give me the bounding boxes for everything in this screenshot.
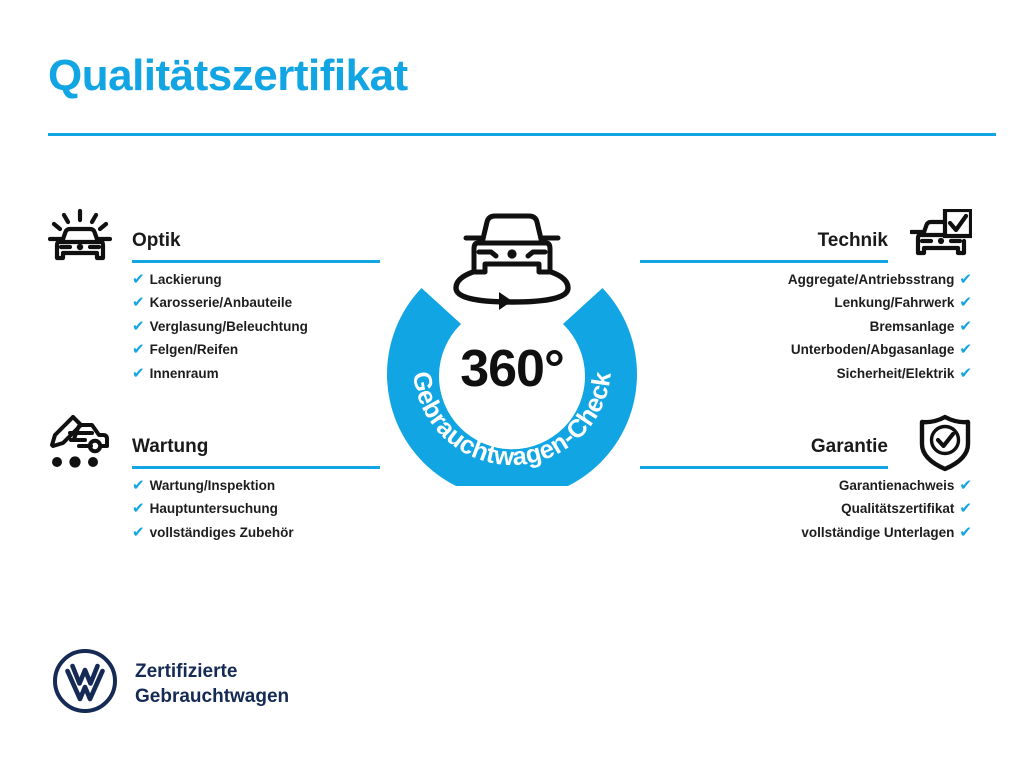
section-wartung-header: Wartung bbox=[48, 412, 380, 474]
quality-certificate-page: Qualitätszertifikat bbox=[0, 0, 1024, 768]
check-icon: ✔ bbox=[959, 295, 972, 310]
check-icon: ✔ bbox=[959, 342, 972, 357]
list-item: Unterboden/Abgasanlage ✔ bbox=[640, 338, 972, 361]
list-item-label: Verglasung/Beleuchtung bbox=[150, 315, 308, 338]
list-item: Lenkung/Fahrwerk ✔ bbox=[640, 291, 972, 314]
section-garantie-title: Garantie bbox=[811, 436, 888, 458]
vw-logo-line1: Zertifizierte bbox=[135, 661, 237, 682]
section-optik: Optik ✔ Lackierung ✔ Karosserie/Anbautei… bbox=[48, 206, 380, 385]
section-optik-title: Optik bbox=[132, 230, 181, 252]
check-icon: ✔ bbox=[132, 295, 145, 310]
list-item-label: Unterboden/Abgasanlage bbox=[791, 338, 955, 361]
optik-check-list: ✔ Lackierung ✔ Karosserie/Anbauteile ✔ V… bbox=[132, 268, 380, 385]
section-garantie: Garantie Garantienachweis ✔ Qualitätszer… bbox=[640, 412, 972, 544]
list-item: ✔ Innenraum bbox=[132, 362, 380, 385]
car-shine-icon bbox=[48, 206, 122, 268]
check-icon: ✔ bbox=[959, 366, 972, 381]
check-icon: ✔ bbox=[132, 319, 145, 334]
list-item: ✔ Wartung/Inspektion bbox=[132, 474, 380, 497]
header-divider bbox=[48, 133, 996, 136]
vw-logo-line2: Gebrauchtwagen bbox=[135, 686, 289, 707]
check-icon: ✔ bbox=[959, 319, 972, 334]
vw-logo-text: Zertifizierte Gebrauchtwagen bbox=[135, 659, 289, 709]
check-icon: ✔ bbox=[132, 478, 145, 493]
section-garantie-header: Garantie bbox=[640, 412, 972, 474]
car-service-pencil-icon bbox=[48, 412, 122, 474]
list-item-label: Felgen/Reifen bbox=[150, 338, 239, 361]
list-item-label: Karosserie/Anbauteile bbox=[150, 291, 293, 314]
vw-logo-icon bbox=[52, 648, 118, 719]
section-technik-title: Technik bbox=[818, 230, 888, 252]
list-item: vollständige Unterlagen ✔ bbox=[640, 521, 972, 544]
list-item-label: vollständiges Zubehör bbox=[150, 521, 294, 544]
check-icon: ✔ bbox=[132, 272, 145, 287]
section-optik-underline bbox=[132, 260, 380, 263]
check-icon: ✔ bbox=[959, 501, 972, 516]
car-rotate-360-icon bbox=[456, 216, 568, 310]
check-icon: ✔ bbox=[132, 525, 145, 540]
check-icon: ✔ bbox=[132, 501, 145, 516]
section-technik: Technik Aggregate/Antriebsstrang ✔ Lenku… bbox=[640, 206, 972, 385]
car-checkbox-icon bbox=[898, 206, 972, 268]
list-item: Aggregate/Antriebsstrang ✔ bbox=[640, 268, 972, 291]
check-icon: ✔ bbox=[959, 272, 972, 287]
list-item: ✔ Karosserie/Anbauteile bbox=[132, 291, 380, 314]
check-icon: ✔ bbox=[132, 342, 145, 357]
badge-360-gebrauchtwagen-check: Gebrauchtwagen-Check 360° bbox=[378, 196, 646, 486]
list-item-label: Lenkung/Fahrwerk bbox=[834, 291, 954, 314]
list-item-label: Lackierung bbox=[150, 268, 222, 291]
garantie-check-list: Garantienachweis ✔ Qualitätszertifikat ✔… bbox=[640, 474, 972, 544]
section-wartung: Wartung ✔ Wartung/Inspektion ✔ Hauptunte… bbox=[48, 412, 380, 544]
wartung-check-list: ✔ Wartung/Inspektion ✔ Hauptuntersuchung… bbox=[132, 474, 380, 544]
check-icon: ✔ bbox=[959, 525, 972, 540]
list-item: ✔ Lackierung bbox=[132, 268, 380, 291]
list-item-label: Aggregate/Antriebsstrang bbox=[788, 268, 955, 291]
section-technik-underline bbox=[640, 260, 888, 263]
list-item: ✔ Felgen/Reifen bbox=[132, 338, 380, 361]
section-optik-header: Optik bbox=[48, 206, 380, 268]
section-wartung-title: Wartung bbox=[132, 436, 208, 458]
list-item-label: vollständige Unterlagen bbox=[801, 521, 954, 544]
list-item: Garantienachweis ✔ bbox=[640, 474, 972, 497]
list-item-label: Sicherheit/Elektrik bbox=[837, 362, 955, 385]
list-item: ✔ Verglasung/Beleuchtung bbox=[132, 315, 380, 338]
section-technik-header: Technik bbox=[640, 206, 972, 268]
list-item-label: Innenraum bbox=[150, 362, 219, 385]
list-item-label: Bremsanlage bbox=[870, 315, 955, 338]
check-icon: ✔ bbox=[959, 478, 972, 493]
list-item: ✔ vollständiges Zubehör bbox=[132, 521, 380, 544]
section-wartung-underline bbox=[132, 466, 380, 469]
section-garantie-underline bbox=[640, 466, 888, 469]
list-item-label: Garantienachweis bbox=[839, 474, 955, 497]
list-item-label: Wartung/Inspektion bbox=[150, 474, 276, 497]
badge-number: 360° bbox=[378, 339, 646, 399]
check-icon: ✔ bbox=[132, 366, 145, 381]
list-item-label: Qualitätszertifikat bbox=[841, 497, 954, 520]
list-item: Sicherheit/Elektrik ✔ bbox=[640, 362, 972, 385]
vw-certified-used-cars-logo: Zertifizierte Gebrauchtwagen bbox=[52, 648, 289, 719]
technik-check-list: Aggregate/Antriebsstrang ✔ Lenkung/Fahrw… bbox=[640, 268, 972, 385]
list-item: Qualitätszertifikat ✔ bbox=[640, 497, 972, 520]
list-item: ✔ Hauptuntersuchung bbox=[132, 497, 380, 520]
list-item-label: Hauptuntersuchung bbox=[150, 497, 278, 520]
list-item: Bremsanlage ✔ bbox=[640, 315, 972, 338]
page-title: Qualitätszertifikat bbox=[48, 52, 408, 100]
shield-check-icon bbox=[898, 412, 972, 474]
